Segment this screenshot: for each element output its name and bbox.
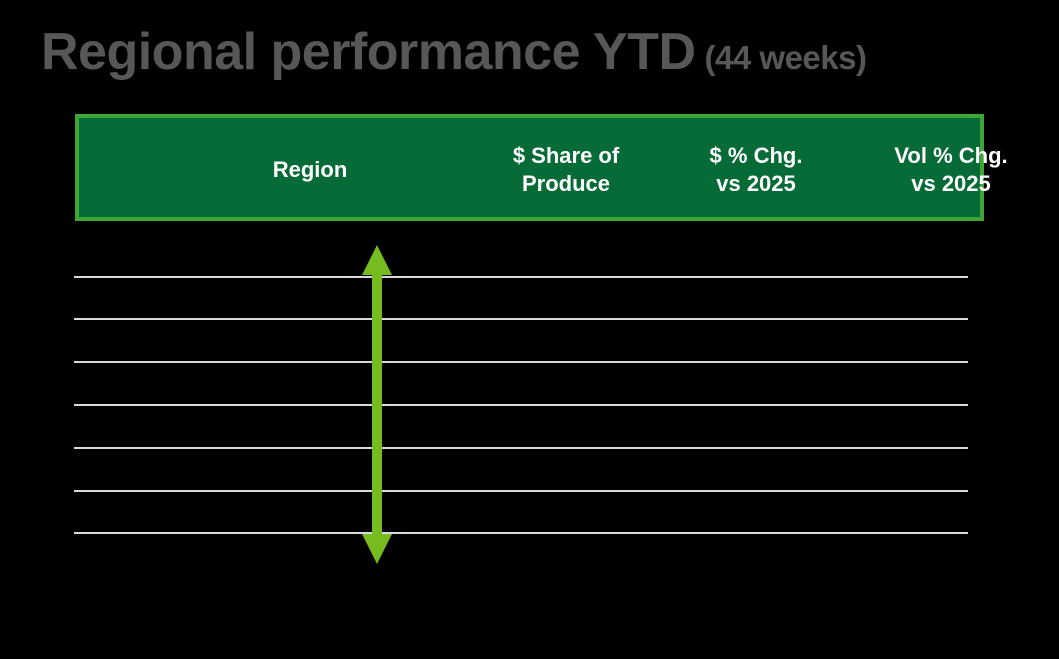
column-header-region: Region <box>220 156 400 184</box>
column-header-dollar-line1: $ % Chg. <box>676 142 836 170</box>
column-header-share-of-produce: $ Share of Produce <box>476 142 656 198</box>
row-divider-2 <box>74 318 968 320</box>
column-header-share-line1: $ Share of <box>476 142 656 170</box>
column-header-vol-line2: vs 2025 <box>861 170 1041 198</box>
row-divider-5 <box>74 447 968 449</box>
column-header-vol-pct-chg: Vol % Chg. vs 2025 <box>861 142 1041 198</box>
page-title-main: Regional performance YTD <box>41 26 696 78</box>
row-divider-4 <box>74 404 968 406</box>
row-divider-1 <box>74 276 968 278</box>
table-body-rows <box>0 0 1059 659</box>
column-header-region-line1: Region <box>220 156 400 184</box>
row-divider-3 <box>74 361 968 363</box>
double-headed-vertical-arrow-icon <box>355 243 399 566</box>
arrow-svg <box>355 243 399 566</box>
column-header-dollar-line2: vs 2025 <box>676 170 836 198</box>
row-divider-6 <box>74 490 968 492</box>
table-header-band: Region $ Share of Produce $ % Chg. vs 20… <box>75 114 984 221</box>
row-divider-7 <box>74 532 968 534</box>
page-title-subtitle: (44 weeks) <box>705 41 867 74</box>
column-header-dollar-pct-chg: $ % Chg. vs 2025 <box>676 142 836 198</box>
column-header-vol-line1: Vol % Chg. <box>861 142 1041 170</box>
arrow-shape <box>362 245 392 564</box>
column-header-share-line2: Produce <box>476 170 656 198</box>
page-title: Regional performance YTD (44 weeks) <box>41 26 866 90</box>
